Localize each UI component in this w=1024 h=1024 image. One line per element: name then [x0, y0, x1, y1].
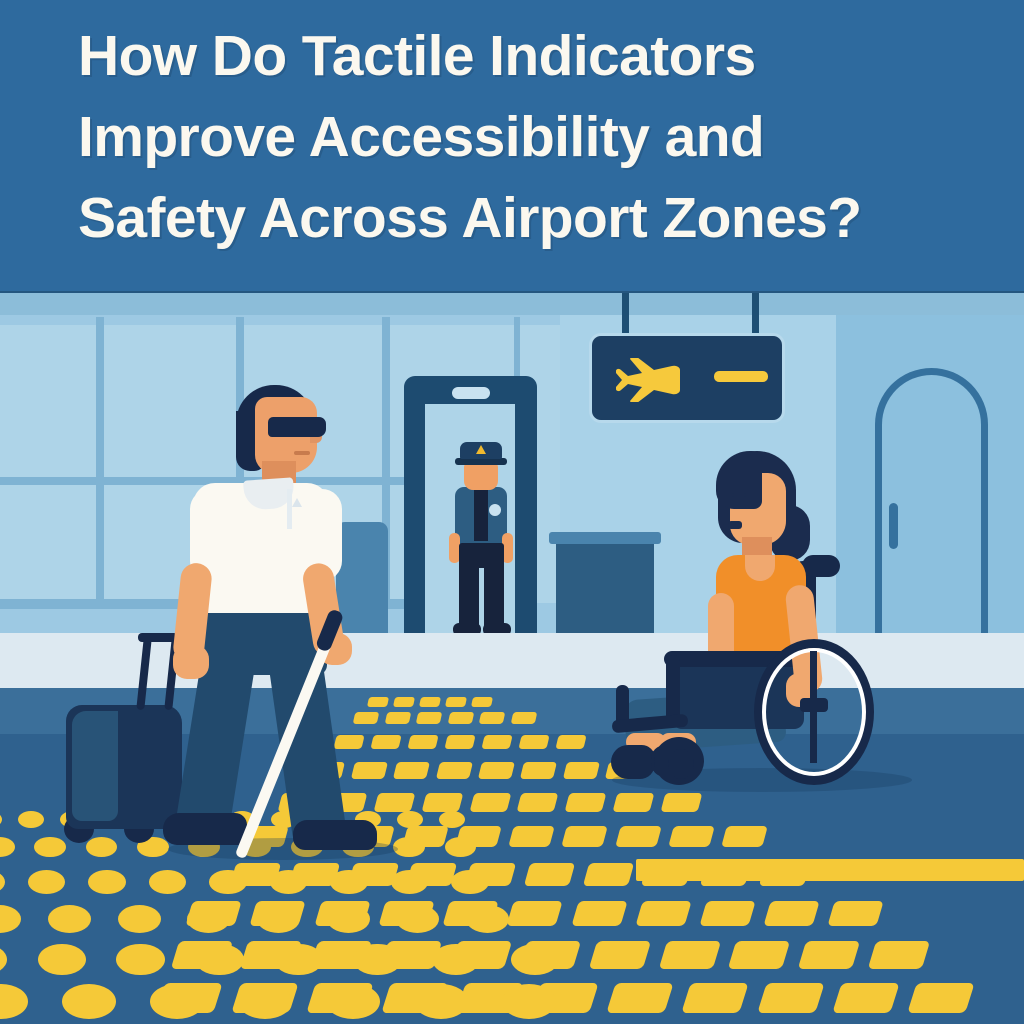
door-handle-icon[interactable] [889, 503, 898, 549]
sunglasses-icon [268, 417, 326, 437]
cap-badge-icon [476, 445, 486, 454]
service-counter-body [556, 543, 654, 638]
sign-rod-right [752, 293, 759, 341]
page-title: How Do Tactile Indicators Improve Access… [78, 16, 1008, 259]
sign-dash [714, 371, 768, 382]
scanner-lamp-icon [452, 387, 490, 399]
ceiling-strip [0, 293, 1024, 315]
waste-bin [336, 522, 388, 638]
officer-badge-icon [489, 504, 501, 516]
title-banner: How Do Tactile Indicators Improve Access… [0, 0, 1024, 293]
title-line-1: How Do Tactile Indicators [78, 16, 1008, 97]
service-counter-top [549, 532, 661, 544]
sign-board [592, 336, 782, 420]
airport-scene [0, 293, 1024, 1024]
illustration-page: How Do Tactile Indicators Improve Access… [0, 0, 1024, 1024]
title-line-2: Improve Accessibility and [78, 97, 1008, 178]
airplane-left-icon [610, 358, 688, 402]
sign-rod-left [622, 293, 629, 341]
title-line-3: Safety Across Airport Zones? [78, 178, 1008, 259]
